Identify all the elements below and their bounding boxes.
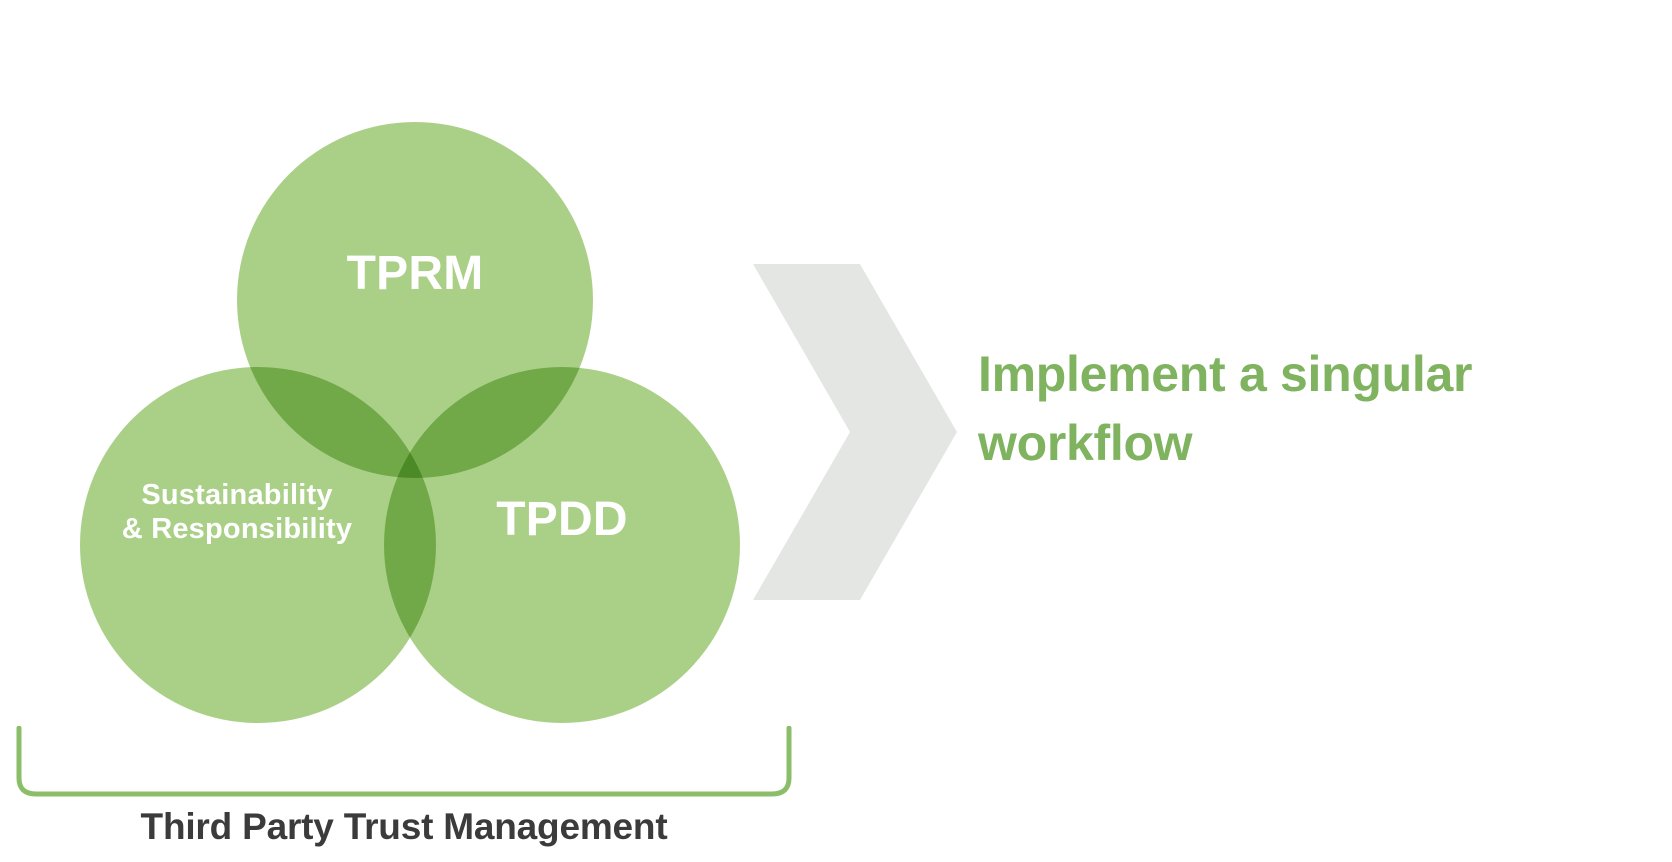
bracket-caption: Third Party Trust Management (14, 806, 794, 848)
diagram-canvas: TPRM Sustainability & Responsibility TPD… (0, 0, 1672, 862)
venn-label-sustainability: Sustainability & Responsibility (92, 478, 382, 546)
outcome-heading: Implement a singular workflow (978, 340, 1618, 478)
venn-label-tprm: TPRM (255, 246, 575, 303)
venn-label-tpdd: TPDD (402, 492, 722, 549)
chevron-right-icon (750, 264, 960, 600)
bracket-icon (14, 726, 794, 800)
